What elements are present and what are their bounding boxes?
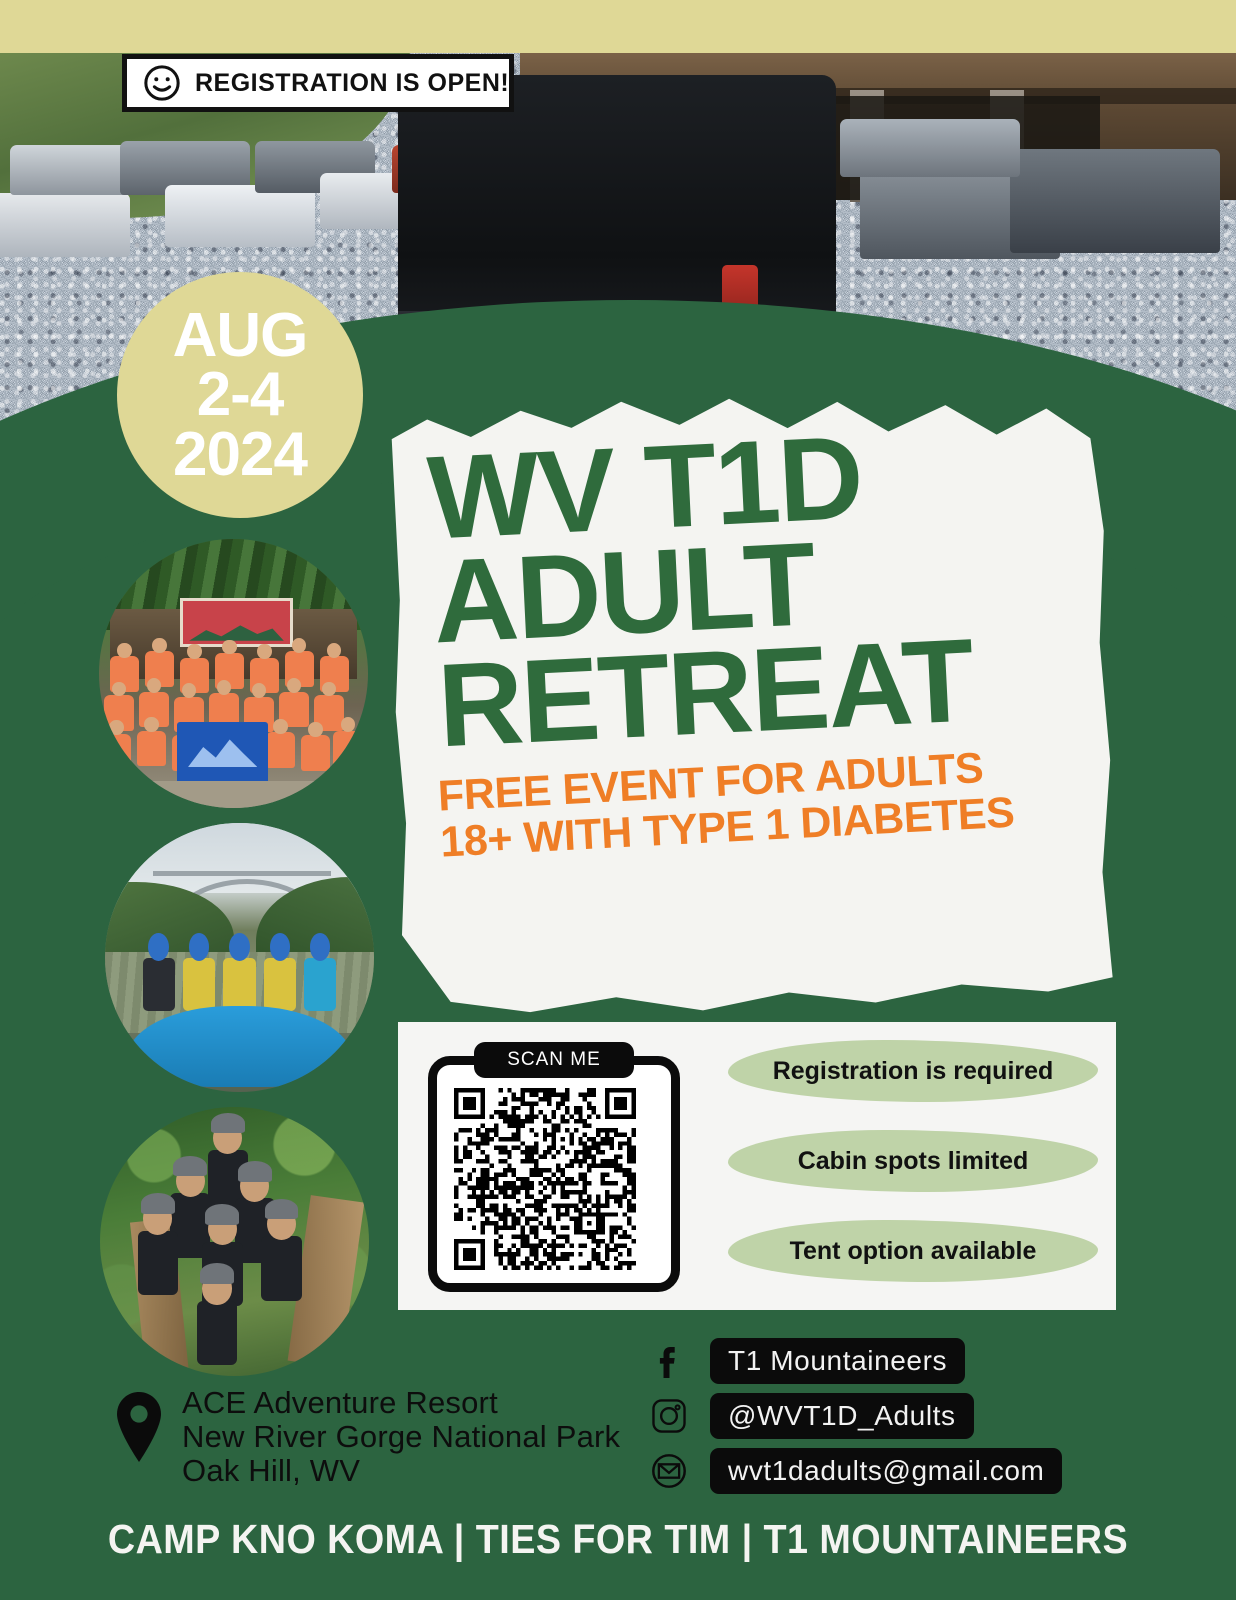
email-address[interactable]: wvt1dadults@gmail.com [710, 1448, 1062, 1494]
registration-open-label: REGISTRATION IS OPEN! [195, 69, 509, 98]
qr-code-block[interactable]: SCAN ME [428, 1042, 680, 1292]
qr-code-registration[interactable] [454, 1088, 636, 1270]
event-date-circle: AUG 2-4 2024 [117, 272, 363, 518]
registration-info-panel: SCAN ME Registration is required Cabin s… [398, 1022, 1116, 1310]
parked-car [165, 185, 315, 247]
registration-open-badge: REGISTRATION IS OPEN! [122, 54, 514, 112]
parked-car [10, 145, 130, 195]
zipline-ropes-course-photo [100, 1107, 369, 1376]
smiley-face-icon [143, 64, 181, 102]
instagram-handle[interactable]: @WVT1D_Adults [710, 1393, 974, 1439]
event-month: AUG [173, 306, 308, 366]
facebook-handle[interactable]: T1 Mountaineers [710, 1338, 965, 1384]
title-block: WV T1D ADULT RETREAT FREE EVENT FOR ADUL… [383, 382, 1120, 1022]
title-line-3: RETREAT [436, 624, 1082, 759]
list-item: Tent option available [728, 1220, 1098, 1282]
registration-notes-list: Registration is required Cabin spots lim… [728, 1040, 1098, 1310]
location-line-1: ACE Adventure Resort [182, 1386, 620, 1420]
location-line-2: New River Gorge National Park [182, 1420, 620, 1454]
partner-organizations-footer: CAMP KNO KOMA | TIES FOR TIM | T1 MOUNTA… [49, 1516, 1186, 1563]
parked-car [0, 193, 130, 257]
event-days: 2-4 [197, 365, 284, 425]
event-location: ACE Adventure Resort New River Gorge Nat… [112, 1386, 672, 1488]
location-line-3: Oak Hill, WV [182, 1454, 620, 1488]
list-item: Registration is required [728, 1040, 1098, 1102]
list-item: Cabin spots limited [728, 1130, 1098, 1192]
flyer-poster: REGISTRATION IS OPEN! AUG 2-4 2024 [0, 0, 1236, 1600]
top-color-band [0, 0, 1236, 56]
instagram-icon [646, 1393, 692, 1439]
whitewater-rafting-photo [105, 823, 374, 1092]
bullet-text: Cabin spots limited [798, 1147, 1029, 1176]
location-address: ACE Adventure Resort New River Gorge Nat… [182, 1386, 620, 1488]
social-row-email[interactable]: wvt1dadults@gmail.com [646, 1448, 1116, 1494]
map-pin-icon [112, 1390, 166, 1464]
email-icon [646, 1448, 692, 1494]
parked-car [1010, 149, 1220, 253]
bullet-text: Tent option available [790, 1237, 1037, 1266]
group-retreat-photo [99, 539, 368, 808]
facebook-icon [646, 1338, 692, 1384]
page-title: WV T1D ADULT RETREAT [426, 416, 1082, 758]
event-year: 2024 [173, 425, 307, 485]
scan-me-label: SCAN ME [474, 1042, 634, 1078]
social-row-facebook[interactable]: T1 Mountaineers [646, 1338, 1116, 1384]
parked-car [840, 119, 1020, 177]
bullet-text: Registration is required [773, 1057, 1054, 1086]
social-row-instagram[interactable]: @WVT1D_Adults [646, 1393, 1116, 1439]
social-links: T1 Mountaineers @WVT1D_Adults wvt1dadu [646, 1338, 1116, 1503]
